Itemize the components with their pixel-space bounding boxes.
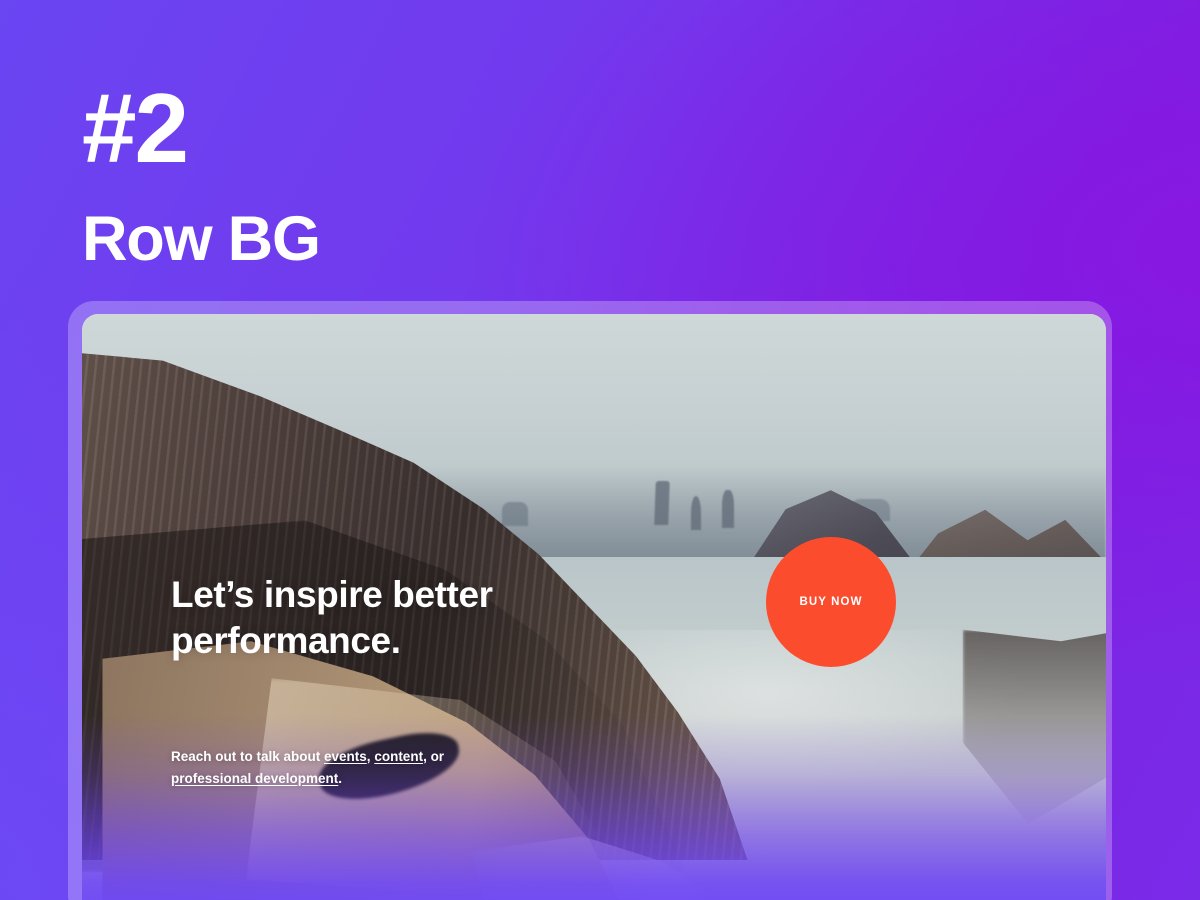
slide-number: #2 <box>82 86 320 170</box>
rock-spire-icon <box>691 496 701 530</box>
rock-spire-icon <box>722 490 734 528</box>
hero-headline: Let’s inspire better performance. <box>171 572 591 664</box>
buy-now-button-label: BUY NOW <box>799 596 862 608</box>
rock-spire-icon <box>655 481 671 525</box>
link-professional-development[interactable]: professional development <box>171 771 338 786</box>
buy-now-button[interactable]: BUY NOW <box>766 537 896 667</box>
page-title: Row BG <box>82 208 320 271</box>
slide-heading-block: #2 Row BG <box>82 86 320 271</box>
slide-canvas: #2 Row BG <box>0 0 1200 900</box>
link-events[interactable]: events <box>324 749 367 764</box>
body-text-suffix: . <box>338 771 342 786</box>
distant-butte-icon <box>502 502 528 526</box>
body-text-prefix: Reach out to talk about <box>171 749 324 764</box>
row-bg-card-frame: Let’s inspire better performance. Reach … <box>68 301 1112 900</box>
link-content[interactable]: content <box>374 749 423 764</box>
hero-body-text: Reach out to talk about events, content,… <box>171 746 523 789</box>
row-bg-card: Let’s inspire better performance. Reach … <box>82 314 1106 900</box>
body-text-sep-2: , or <box>423 749 444 764</box>
